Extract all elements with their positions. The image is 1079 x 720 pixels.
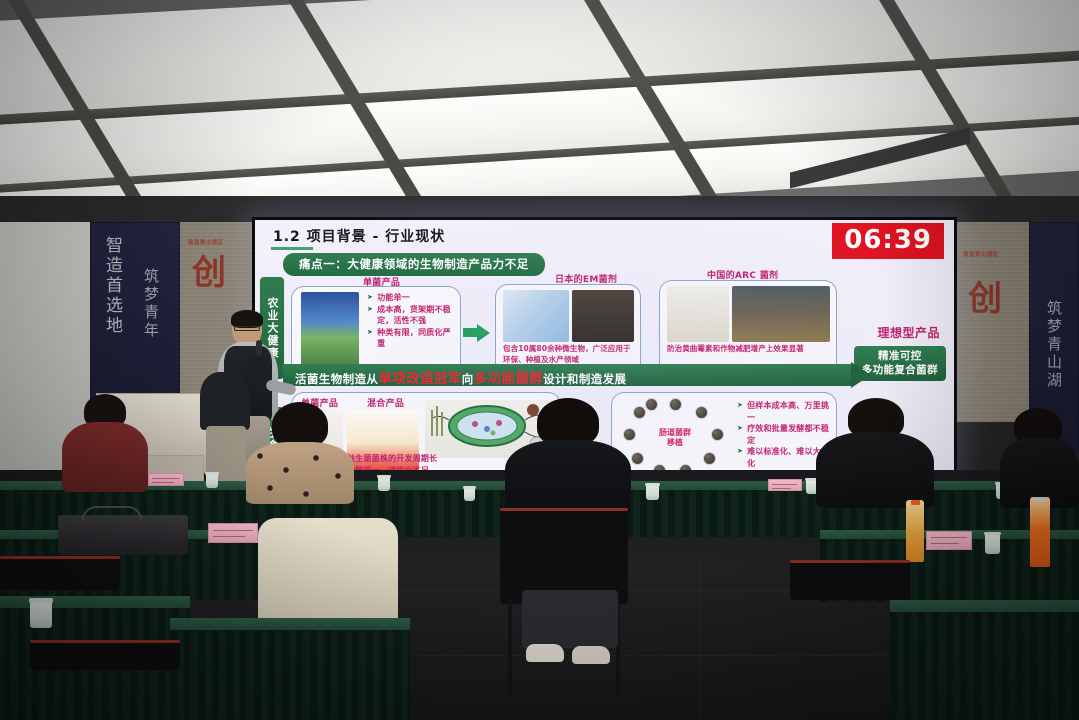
em-soil-image — [572, 290, 634, 342]
right-chuang-logo: 创 — [968, 282, 1002, 316]
right-banner-text: 筑梦青山湖 — [1044, 300, 1065, 390]
bullet-text: 种类有限，同质化严重 — [377, 327, 459, 350]
arrow-seg-3: 向 — [462, 372, 474, 386]
audience-center — [505, 398, 633, 508]
bag-handle — [82, 506, 142, 520]
drink-bottle — [906, 500, 924, 562]
cup — [646, 483, 659, 500]
circle-label: 肠道菌群 移植 — [659, 428, 691, 448]
row1-col2-caption: 包含10属80余种微生物，广泛应用于环保、种植及水产领域 — [503, 344, 635, 365]
circle-label-2: 移植 — [659, 438, 691, 448]
slide-title: 1.2 项目背景 - 行业现状 — [273, 226, 445, 246]
shoe-left — [526, 644, 564, 662]
audience-polka-top — [246, 442, 354, 504]
microphone — [256, 340, 262, 356]
name-card — [768, 479, 802, 491]
left-org-text: 南昌青山湖区 — [188, 238, 223, 246]
laptop-bag — [58, 515, 188, 555]
audience-dark-jacket — [816, 432, 934, 508]
name-card — [148, 473, 184, 486]
arrow-seg-4: 多功能菌群 — [474, 371, 544, 387]
audience-center-seated-legs — [516, 590, 626, 680]
chair[interactable] — [0, 556, 120, 590]
table-front-right — [890, 600, 1079, 720]
chair[interactable] — [30, 640, 180, 670]
presenter-glasses — [234, 326, 260, 331]
name-card — [208, 523, 258, 543]
row1-arrow-stem — [463, 328, 477, 337]
audience-dark-coat — [505, 440, 631, 514]
row2-col1-heading-b: 混合产品 — [367, 396, 404, 409]
arrow-seg-2: 单项改造冠军 — [378, 371, 461, 387]
left-chuang-logo: 创 — [192, 256, 226, 290]
conference-room-photo: 智造首选地 筑梦青年 南昌青山湖区 创 南昌青山湖区 创 筑梦青山湖 1.2 项… — [0, 0, 1079, 720]
ideal-product-heading: 理想型产品 — [877, 324, 940, 341]
microbiome-circle-diagram: 肠道菌群 移植 — [623, 398, 727, 478]
countdown-timer: 06:39 — [832, 223, 944, 259]
bullet-text: 功能单一 — [377, 292, 410, 304]
title-underline — [271, 247, 313, 250]
drink-bottle — [1030, 497, 1050, 567]
transition-arrow-banner: 活菌生物制造从单项改造冠军向多功能菌群设计和制造发展 — [283, 364, 883, 386]
em-product-image — [503, 290, 569, 342]
coat-on-chair — [258, 518, 398, 628]
row1-col1-bullets: ➤功能单一 ➤成本高，货架期不稳定，活性不强 ➤种类有限，同质化严重 — [367, 292, 459, 350]
audience-polka-dot — [246, 402, 356, 498]
row1-col3-caption: 防治黄曲霉素和作物减肥增产上效果显著 — [667, 344, 827, 355]
audience-right — [816, 398, 936, 504]
table-front-center — [170, 618, 410, 720]
left-banner-text-1: 智造首选地 — [100, 236, 125, 336]
left-banner-text-2: 筑梦青年 — [141, 268, 162, 340]
arc-product-bag-image — [667, 286, 729, 342]
row1-arrow-head — [477, 324, 490, 342]
arrow-seg-1: 活菌生物制造从 — [295, 372, 378, 386]
audience-far-right — [1000, 408, 1079, 504]
cup — [985, 532, 1000, 554]
circle-label-1: 肠道菌群 — [659, 428, 691, 438]
cup — [464, 486, 475, 501]
trousers — [522, 590, 618, 648]
arc-field-photo — [732, 286, 830, 342]
bullet-text: 益生菌菌株的开发周期长 — [347, 453, 437, 465]
bullet-text: 成本高，货架期不稳定，活性不强 — [377, 304, 459, 327]
audience-hair — [537, 398, 599, 446]
painpoint-banner: 痛点一：大健康领域的生物制造产品力不足 — [283, 253, 545, 276]
shoe-right — [572, 646, 610, 664]
audience-red-jacket — [62, 422, 148, 492]
cup — [30, 598, 52, 628]
standing-person-jacket — [200, 372, 250, 430]
audience-front-left — [60, 394, 150, 490]
right-org-text: 南昌青山湖区 — [963, 250, 998, 258]
chair-leg — [508, 600, 512, 696]
chair[interactable] — [790, 560, 910, 600]
name-card — [926, 531, 972, 550]
cup — [206, 472, 218, 488]
ceiling — [0, 0, 1079, 222]
arrow-seg-5: 设计和制造发展 — [543, 372, 626, 386]
ideal-line-1: 精准可控 — [862, 349, 938, 363]
cup — [378, 475, 390, 491]
single-strain-product-image — [301, 292, 359, 370]
